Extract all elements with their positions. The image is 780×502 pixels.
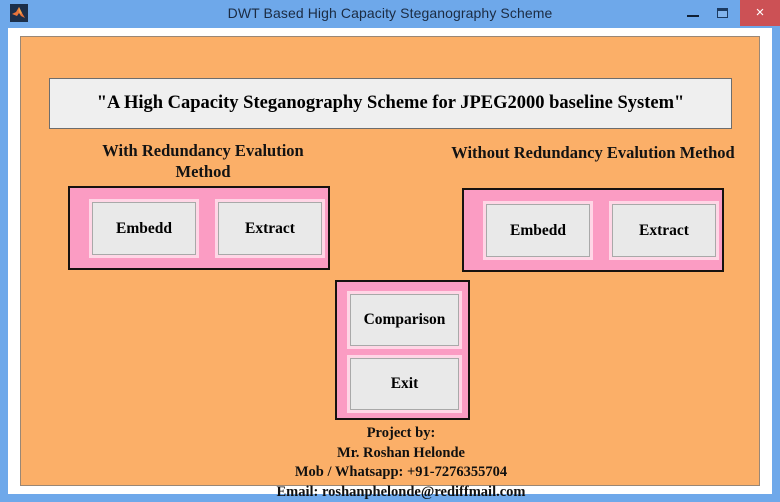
comparison-button[interactable]: Comparison — [350, 294, 459, 346]
heading-without-redundancy: Without Redundancy Evalution Method — [443, 142, 743, 163]
title-banner: "A High Capacity Steganography Scheme fo… — [49, 78, 732, 129]
maximize-button[interactable] — [708, 0, 738, 26]
exit-button[interactable]: Exit — [350, 358, 459, 410]
panel-without-redundancy: Embedd Extract — [462, 188, 724, 272]
embedd-button-without-redundancy[interactable]: Embedd — [486, 204, 590, 257]
embedd-button-label: Embedd — [510, 222, 566, 240]
figure-canvas: "A High Capacity Steganography Scheme fo… — [20, 36, 760, 486]
extract-button-label: Extract — [639, 222, 689, 240]
minimize-button[interactable] — [678, 0, 708, 26]
close-icon: × — [756, 4, 765, 21]
embedd-button-label: Embedd — [116, 220, 172, 238]
comparison-button-label: Comparison — [364, 311, 446, 329]
application-window: DWT Based High Capacity Steganography Sc… — [0, 0, 780, 502]
exit-button-label: Exit — [391, 375, 419, 393]
minimize-icon — [687, 15, 699, 17]
maximize-icon — [717, 8, 728, 18]
extract-button-without-redundancy[interactable]: Extract — [612, 204, 716, 257]
extract-button-label: Extract — [245, 220, 295, 238]
figure-page: "A High Capacity Steganography Scheme fo… — [8, 28, 772, 494]
panel-actions: Comparison Exit — [335, 280, 470, 420]
embedd-button-with-redundancy[interactable]: Embedd — [92, 202, 196, 255]
title-bar: DWT Based High Capacity Steganography Sc… — [0, 0, 780, 26]
panel-with-redundancy: Embedd Extract — [68, 186, 330, 270]
credits-line-email: Email: roshanphelonde@rediffmail.com — [191, 483, 611, 502]
window-title: DWT Based High Capacity Steganography Sc… — [0, 0, 780, 26]
credits-line-author: Mr. Roshan Helonde — [191, 444, 611, 464]
close-button[interactable]: × — [740, 0, 780, 26]
credits-line-phone: Mob / Whatsapp: +91-7276355704 — [191, 463, 611, 483]
extract-button-with-redundancy[interactable]: Extract — [218, 202, 322, 255]
banner-text: "A High Capacity Steganography Scheme fo… — [97, 93, 685, 114]
credits-line-project-by: Project by: — [191, 424, 611, 444]
credits-block: Project by: Mr. Roshan Helonde Mob / Wha… — [191, 424, 611, 502]
heading-with-redundancy: With Redundancy Evalution Method — [83, 140, 323, 182]
